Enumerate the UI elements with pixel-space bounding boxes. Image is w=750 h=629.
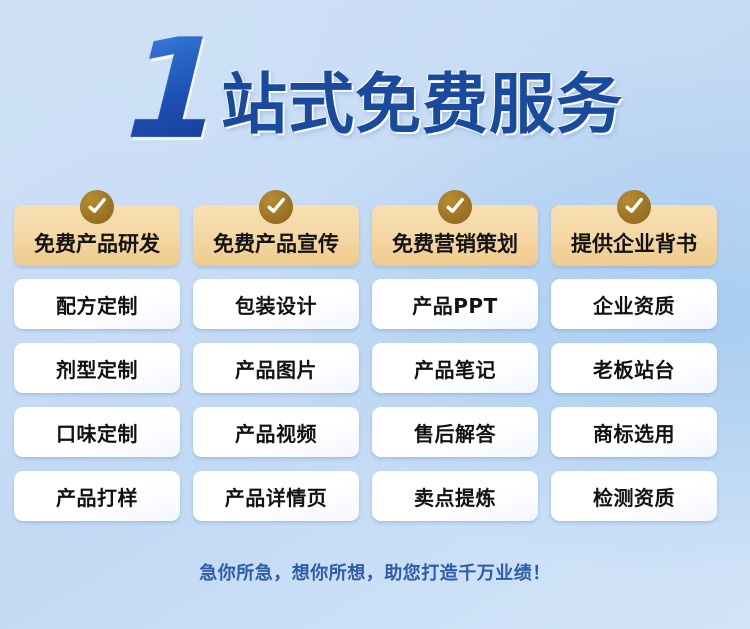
- promo-poster: 1 站式免费服务 免费产品研发 配方定制 剂型定制: [0, 0, 750, 629]
- service-item[interactable]: 商标选用: [551, 407, 717, 457]
- service-item-label: 配方定制: [56, 290, 138, 319]
- title-text: 站式免费服务: [221, 72, 623, 138]
- service-column: 免费产品研发 配方定制 剂型定制 口味定制 产品打样: [14, 190, 180, 521]
- service-item[interactable]: 产品PPT: [372, 279, 538, 329]
- service-item[interactable]: 剂型定制: [14, 343, 180, 393]
- service-item[interactable]: 产品笔记: [372, 343, 538, 393]
- poster-title: 1 站式免费服务: [0, 26, 750, 166]
- service-item-label: 包装设计: [235, 290, 317, 319]
- service-item[interactable]: 口味定制: [14, 407, 180, 457]
- column-header-label: 免费产品研发: [34, 228, 160, 258]
- check-icon: [259, 190, 293, 224]
- service-item-label: 产品详情页: [225, 482, 328, 511]
- service-item[interactable]: 检测资质: [551, 471, 717, 521]
- service-item[interactable]: 产品打样: [14, 471, 180, 521]
- service-item[interactable]: 配方定制: [14, 279, 180, 329]
- service-item-label: 企业资质: [593, 290, 675, 319]
- check-icon: [617, 190, 651, 224]
- service-item-label: 产品视频: [235, 418, 317, 447]
- column-header: 提供企业背书: [551, 190, 717, 266]
- check-icon: [438, 190, 472, 224]
- service-item-label: 商标选用: [593, 418, 675, 447]
- column-header-label: 免费产品宣传: [213, 228, 339, 258]
- service-item[interactable]: 老板站台: [551, 343, 717, 393]
- service-column: 免费营销策划 产品PPT 产品笔记 售后解答 卖点提炼: [372, 190, 538, 521]
- service-item-label: 口味定制: [56, 418, 138, 447]
- service-item[interactable]: 产品视频: [193, 407, 359, 457]
- service-item-label: 检测资质: [593, 482, 675, 511]
- service-item-label: 剂型定制: [56, 354, 138, 383]
- service-item[interactable]: 产品图片: [193, 343, 359, 393]
- service-column: 免费产品宣传 包装设计 产品图片 产品视频 产品详情页: [193, 190, 359, 521]
- service-item-label: 产品图片: [235, 354, 317, 383]
- service-item[interactable]: 包装设计: [193, 279, 359, 329]
- service-item-label: 产品PPT: [412, 290, 497, 319]
- poster-footer: 急你所急，想你所想，助您打造千万业绩！: [0, 559, 750, 585]
- service-item[interactable]: 产品详情页: [193, 471, 359, 521]
- service-item-label: 卖点提炼: [414, 482, 496, 511]
- service-item[interactable]: 售后解答: [372, 407, 538, 457]
- service-item-label: 产品打样: [56, 482, 138, 511]
- column-header: 免费营销策划: [372, 190, 538, 266]
- service-item-label: 售后解答: [414, 418, 496, 447]
- service-item-label: 产品笔记: [414, 354, 496, 383]
- column-header-label: 免费营销策划: [392, 228, 518, 258]
- service-item[interactable]: 企业资质: [551, 279, 717, 329]
- title-numeral: 1: [123, 21, 224, 159]
- column-header: 免费产品宣传: [193, 190, 359, 266]
- column-header: 免费产品研发: [14, 190, 180, 266]
- footer-slogan: 急你所急，想你所想，助您打造千万业绩！: [199, 563, 551, 584]
- column-header-label: 提供企业背书: [571, 228, 697, 258]
- service-column: 提供企业背书 企业资质 老板站台 商标选用 检测资质: [551, 190, 717, 521]
- service-grid: 免费产品研发 配方定制 剂型定制 口味定制 产品打样: [14, 190, 736, 521]
- service-item[interactable]: 卖点提炼: [372, 471, 538, 521]
- check-icon: [80, 190, 114, 224]
- service-item-label: 老板站台: [593, 354, 675, 383]
